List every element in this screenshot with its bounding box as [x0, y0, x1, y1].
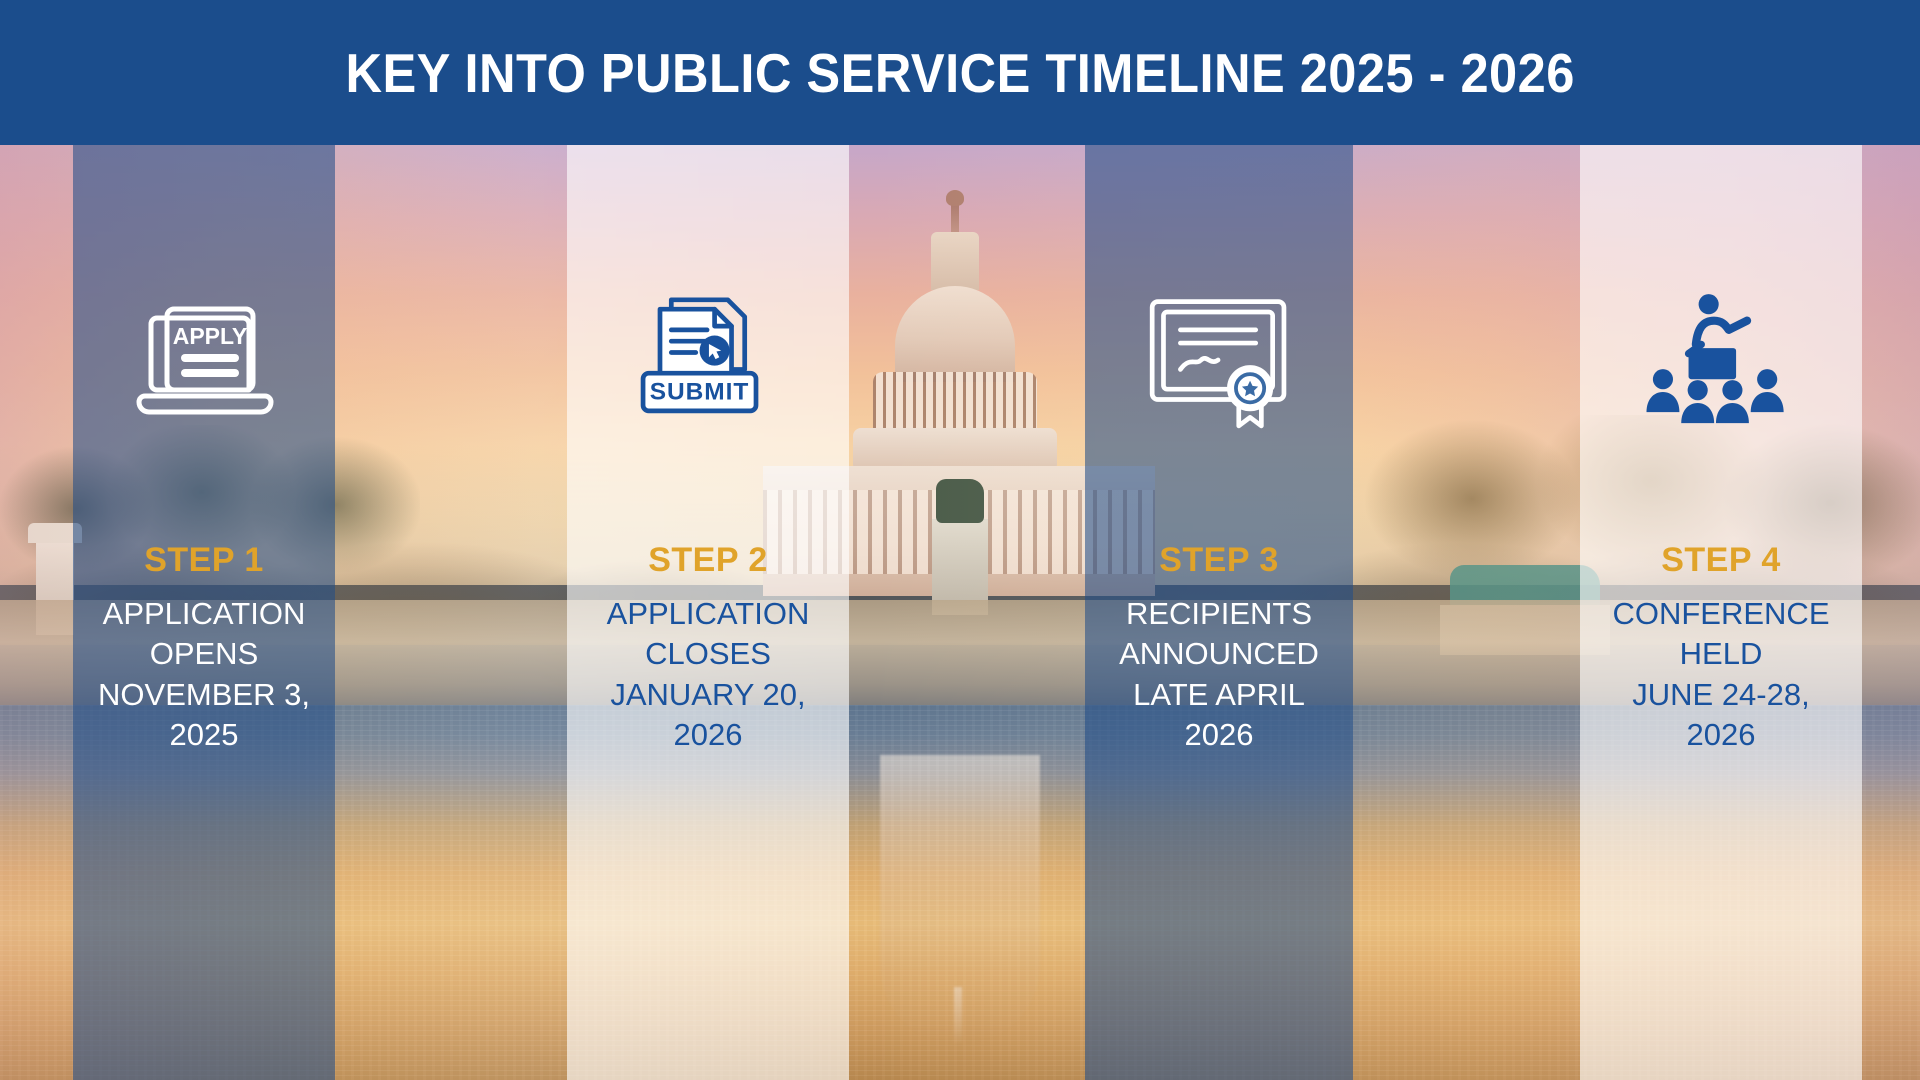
svg-text:APPLY: APPLY	[173, 323, 248, 349]
step-body: APPLICATION CLOSES JANUARY 20, 2026	[591, 594, 826, 755]
step-body-line: NOVEMBER 3,	[98, 675, 310, 715]
step-body-line: JUNE 24-28,	[1612, 675, 1829, 715]
step-body-line: ANNOUNCED	[1119, 634, 1319, 674]
step-body-line: APPLICATION	[98, 594, 310, 634]
page-title: KEY INTO PUBLIC SERVICE TIMELINE 2025 - …	[345, 41, 1574, 105]
step-body-line: 2026	[607, 715, 810, 755]
header-bar: KEY INTO PUBLIC SERVICE TIMELINE 2025 - …	[0, 0, 1920, 145]
step-label: STEP 3	[1159, 541, 1279, 580]
step-body-line: JANUARY 20,	[607, 675, 810, 715]
step-panel-2[interactable]: SUBMIT STEP 2 APPLICATION CLOSES JANUARY…	[567, 145, 849, 1080]
document-submit-icon: SUBMIT	[628, 275, 788, 445]
step-panel-3[interactable]: STEP 3 RECIPIENTS ANNOUNCED LATE APRIL 2…	[1085, 145, 1353, 1080]
step-body: CONFERENCE HELD JUNE 24-28, 2026	[1596, 594, 1845, 755]
infographic-page: KEY INTO PUBLIC SERVICE TIMELINE 2025 - …	[0, 0, 1920, 1080]
step-label: STEP 1	[144, 541, 264, 580]
step-body-line: 2026	[1119, 715, 1319, 755]
step-label: STEP 2	[648, 541, 768, 580]
step-label: STEP 4	[1661, 541, 1781, 580]
step-panel-4[interactable]: STEP 4 CONFERENCE HELD JUNE 24-28, 2026	[1580, 145, 1862, 1080]
step-body-line: CONFERENCE	[1612, 594, 1829, 634]
step-body-line: OPENS	[98, 634, 310, 674]
speaker-podium-audience-icon	[1641, 275, 1801, 445]
step-body: RECIPIENTS ANNOUNCED LATE APRIL 2026	[1103, 594, 1335, 755]
step-body-line: HELD	[1612, 634, 1829, 674]
step-panel-1[interactable]: APPLY STEP 1 APPLICATION OPENS NOVEMBER …	[73, 145, 335, 1080]
step-body: APPLICATION OPENS NOVEMBER 3, 2025	[82, 594, 326, 755]
step-body-line: RECIPIENTS	[1119, 594, 1319, 634]
step-body-line: 2025	[98, 715, 310, 755]
step-body-line: 2026	[1612, 715, 1829, 755]
step-body-line: LATE APRIL	[1119, 675, 1319, 715]
svg-text:SUBMIT: SUBMIT	[650, 378, 749, 405]
certificate-award-icon	[1139, 275, 1299, 445]
step-body-line: CLOSES	[607, 634, 810, 674]
laptop-apply-icon: APPLY	[124, 275, 284, 445]
step-body-line: APPLICATION	[607, 594, 810, 634]
